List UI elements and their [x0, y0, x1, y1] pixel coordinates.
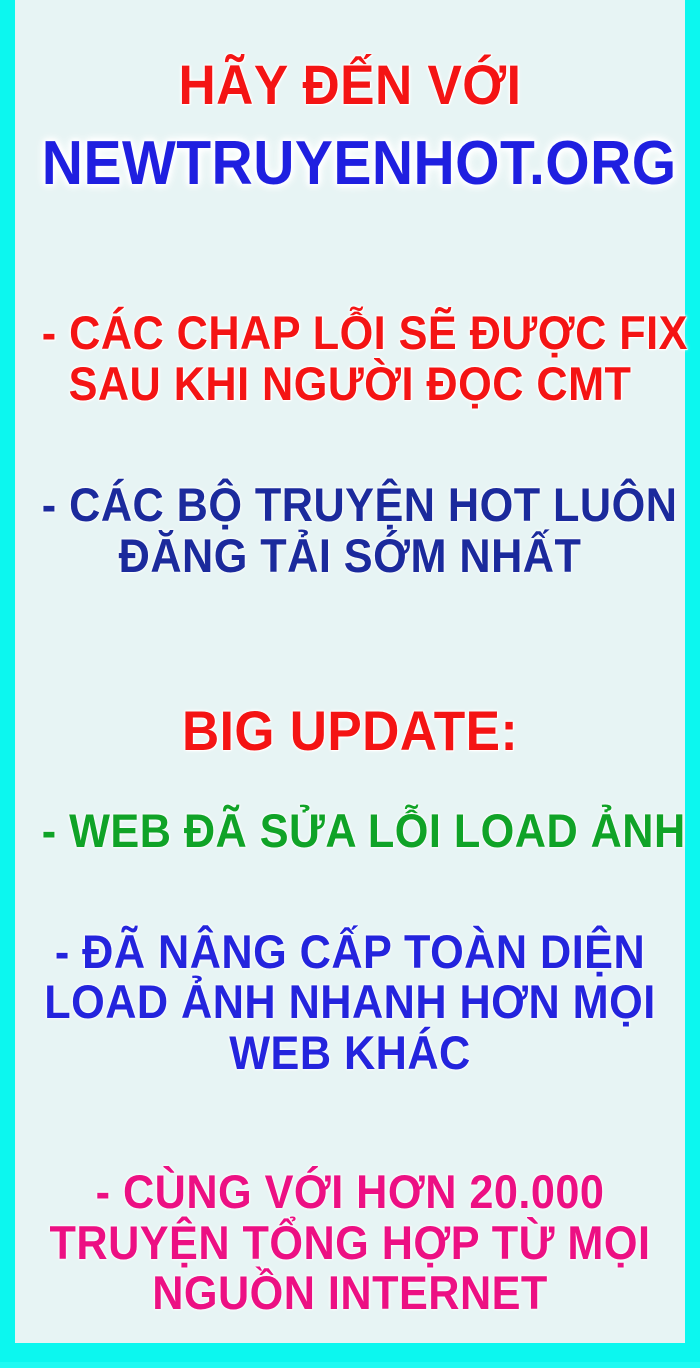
section-chap-fix-line-2: SAU KHI NGƯỜI ĐỌC CMT: [42, 359, 658, 410]
big-update-heading: BIG UPDATE:: [42, 701, 658, 761]
poster-panel: HÃY ĐẾN VỚI NEWTRUYENHOT.ORG - CÁC CHAP …: [15, 0, 685, 1343]
big-update-item-so-luong-truyen-line-3: NGUỒN INTERNET: [42, 1268, 658, 1319]
big-update-item-nang-cap-line-2: LOAD ẢNH NHANH HƠN MỌI: [42, 977, 658, 1028]
big-update-item-fix-load-anh: - WEB ĐÃ SỬA LỖI LOAD ẢNH: [15, 762, 685, 857]
section-chap-fix-line-1: - CÁC CHAP LỖI SẼ ĐƯỢC FIX: [42, 308, 658, 359]
section-hot-truyen: - CÁC BỘ TRUYỆN HOT LUÔN ĐĂNG TẢI SỚM NH…: [15, 480, 685, 582]
big-update-item-fix-load-anh-line-1: - WEB ĐÃ SỬA LỖI LOAD ẢNH: [42, 806, 658, 857]
section-hot-truyen-line-2: ĐĂNG TẢI SỚM NHẤT: [42, 531, 658, 582]
section-chap-fix: - CÁC CHAP LỖI SẼ ĐƯỢC FIX SAU KHI NGƯỜI…: [15, 308, 685, 410]
promo-poster: HÃY ĐẾN VỚI NEWTRUYENHOT.ORG - CÁC CHAP …: [0, 0, 700, 1368]
section-hot-truyen-line-1: - CÁC BỘ TRUYỆN HOT LUÔN: [42, 480, 658, 531]
big-update-item-so-luong-truyen-line-2: TRUYỆN TỔNG HỢP TỪ MỌI: [42, 1218, 658, 1269]
big-update-item-so-luong-truyen-line-1: - CÙNG VỚI HƠN 20.000: [42, 1167, 658, 1218]
big-update-item-nang-cap-line-3: WEB KHÁC: [42, 1028, 658, 1079]
big-update-item-nang-cap-line-1: - ĐÃ NÂNG CẤP TOÀN DIỆN: [42, 927, 658, 978]
site-url-heading: NEWTRUYENHOT.ORG: [42, 131, 658, 198]
bottom-cyan-sliver: [0, 1362, 700, 1368]
hero-line-1: HÃY ĐẾN VỚI: [42, 55, 658, 115]
big-update-item-nang-cap: - ĐÃ NÂNG CẤP TOÀN DIỆN LOAD ẢNH NHANH H…: [15, 927, 685, 1079]
big-update-item-so-luong-truyen: - CÙNG VỚI HƠN 20.000 TRUYỆN TỔNG HỢP TỪ…: [15, 1167, 685, 1319]
